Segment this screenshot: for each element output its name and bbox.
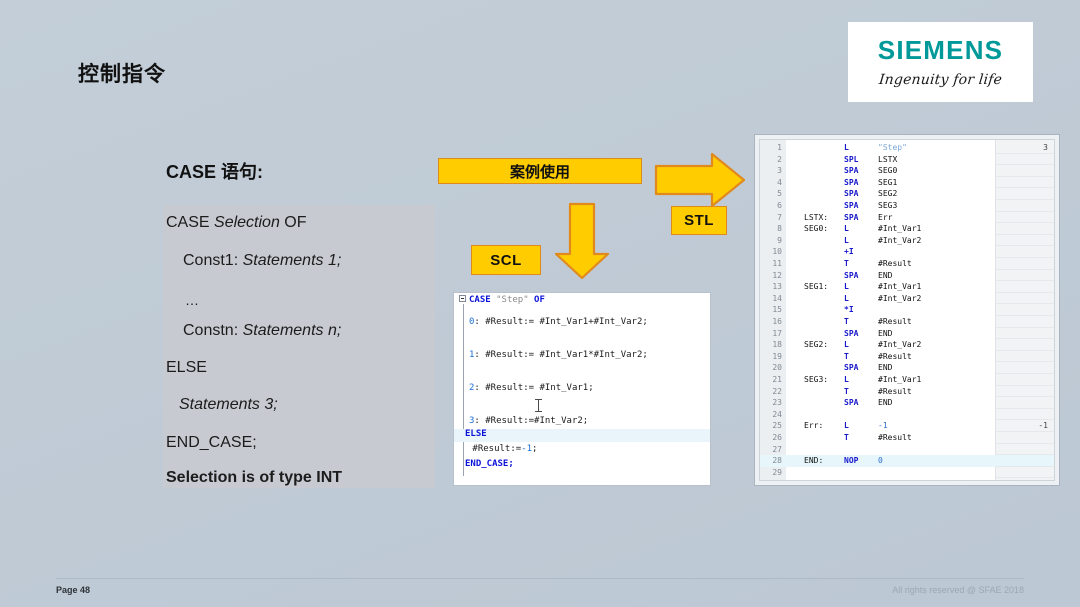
stl-operand: #Int_Var2 — [878, 339, 921, 351]
stl-value-cell — [996, 455, 1054, 467]
stl-line-number: 28 — [760, 455, 782, 467]
syntax-const1: Const1: — [183, 252, 243, 269]
text-cursor-icon — [535, 399, 542, 412]
stl-operand: SEG3 — [878, 200, 897, 212]
stl-operand: END — [878, 397, 892, 409]
stl-mnemonic: SPA — [844, 165, 858, 177]
stl-value-cell — [996, 235, 1054, 247]
stl-mnemonic: +I — [844, 246, 854, 258]
stl-label: SEG0: — [804, 223, 828, 235]
stl-operand: END — [878, 362, 892, 374]
stl-operand: 0 — [878, 455, 883, 467]
stl-value-cell — [996, 386, 1054, 398]
stl-value-cell — [996, 304, 1054, 316]
stl-line-number: 17 — [760, 328, 782, 340]
footer-copyright: All rights reserved @ SFAE 2018 — [892, 585, 1024, 595]
stl-operand: #Int_Var1 — [878, 374, 921, 386]
stl-value-cell — [996, 246, 1054, 258]
stl-mnemonic: T — [844, 386, 849, 398]
stl-line-number: 8 — [760, 223, 782, 235]
syntax-statements3: Statements 3; — [179, 396, 278, 413]
stl-operand: LSTX — [878, 154, 897, 166]
case-syntax-block: CASE Selection OF Const1: Statements 1; … — [163, 205, 435, 488]
stl-value-cell — [996, 316, 1054, 328]
syntax-kw-endcase: END_CASE; — [166, 434, 257, 451]
syntax-statementsn: Statements n; — [243, 322, 342, 339]
stl-value-cell — [996, 467, 1054, 479]
stl-operand: #Int_Var1 — [878, 223, 921, 235]
scl-line-4: 2: #Result:= #Int_Var1; — [469, 383, 710, 394]
stl-label: Err: — [804, 420, 823, 432]
stl-mnemonic: L — [844, 420, 849, 432]
arrow-down-icon — [554, 202, 610, 280]
scl-line-5: 3: #Result:=#Int_Var2; — [469, 416, 710, 427]
label-scl[interactable]: SCL — [471, 245, 541, 275]
stl-mnemonic: L — [844, 235, 849, 247]
logo-claim: Ingenuity for life — [878, 72, 1003, 88]
stl-value-cell — [996, 432, 1054, 444]
stl-mnemonic: L — [844, 142, 849, 154]
stl-mnemonic: L — [844, 293, 849, 305]
stl-operand: #Result — [878, 258, 912, 270]
syntax-note: Selection is of type INT — [166, 470, 342, 486]
syntax-line-4: Statements 3; — [179, 397, 278, 413]
syntax-line-3: Constn: Statements n; — [183, 323, 341, 339]
stl-label: LSTX: — [804, 212, 828, 224]
stl-mnemonic: NOP — [844, 455, 858, 467]
stl-value-cell — [996, 177, 1054, 189]
arrow-right-icon — [654, 152, 746, 208]
scl-code-panel[interactable]: CASE "Step" OF 0: #Result:= #Int_Var1+#I… — [453, 292, 711, 486]
stl-line-number: 13 — [760, 281, 782, 293]
stl-value-cell — [996, 165, 1054, 177]
stl-line-number: 6 — [760, 200, 782, 212]
code-fold-guide — [463, 304, 464, 476]
stl-operand: END — [878, 270, 892, 282]
stl-value-cell — [996, 188, 1054, 200]
stl-value-cell — [996, 351, 1054, 363]
stl-value-cell — [996, 420, 1054, 432]
stl-operand: SEG2 — [878, 188, 897, 200]
stl-line-number: 23 — [760, 397, 782, 409]
syntax-constn: Constn: — [183, 322, 243, 339]
stl-mnemonic: L — [844, 281, 849, 293]
stl-mnemonic: L — [844, 374, 849, 386]
syntax-kw-else: ELSE — [166, 359, 207, 376]
stl-value-cell — [996, 293, 1054, 305]
scl-line-2: 0: #Result:= #Int_Var1+#Int_Var2; — [469, 317, 710, 328]
stl-line-number: 7 — [760, 212, 782, 224]
stl-value-cell — [996, 223, 1054, 235]
stl-operand: #Result — [878, 432, 912, 444]
syntax-kw-of: OF — [280, 214, 307, 231]
scl-code-area[interactable]: CASE "Step" OF 0: #Result:= #Int_Var1+#I… — [454, 293, 710, 485]
code-fold-toggle-icon[interactable] — [459, 295, 466, 302]
syntax-line-2: Const1: Statements 1; — [183, 253, 341, 269]
scl-line-8: END_CASE; — [465, 459, 710, 470]
stl-mnemonic: SPA — [844, 212, 858, 224]
stl-label: SEG1: — [804, 281, 828, 293]
stl-line-number: 3 — [760, 165, 782, 177]
stl-line-number: 29 — [760, 467, 782, 479]
stl-operand: Err — [878, 212, 892, 224]
syntax-line-1: CASE Selection OF — [166, 215, 307, 231]
page-title: 控制指令 — [78, 58, 166, 88]
stl-operand: "Step" — [878, 142, 907, 154]
stl-line-number: 26 — [760, 432, 782, 444]
syntax-selection: Selection — [214, 214, 280, 231]
stl-mnemonic: SPA — [844, 188, 858, 200]
stl-mnemonic: L — [844, 339, 849, 351]
stl-line-number: 24 — [760, 409, 782, 421]
stl-value-cell — [996, 328, 1054, 340]
stl-operand: END — [878, 328, 892, 340]
stl-value-cell — [996, 142, 1054, 154]
stl-value-cell — [996, 212, 1054, 224]
stl-line-number: 11 — [760, 258, 782, 270]
stl-operand: #Result — [878, 316, 912, 328]
syntax-ellipsis: … — [185, 292, 199, 308]
stl-value-cell — [996, 339, 1054, 351]
stl-operand: #Result — [878, 351, 912, 363]
stl-line-number: 4 — [760, 177, 782, 189]
logo-wordmark: SIEMENS — [878, 37, 1003, 63]
stl-line-number: 5 — [760, 188, 782, 200]
stl-operand: #Int_Var2 — [878, 235, 921, 247]
footer-divider — [56, 578, 1024, 579]
stl-line-number: 22 — [760, 386, 782, 398]
syntax-line-ellipsis: … — [185, 293, 199, 307]
stl-line-number: 12 — [760, 270, 782, 282]
stl-value-cell — [996, 258, 1054, 270]
stl-code-area[interactable]: 1L"Step"32SPLLSTX3SPASEG04SPASEG15SPASEG… — [759, 139, 1055, 481]
stl-operand: SEG0 — [878, 165, 897, 177]
scl-line-6: ELSE — [454, 429, 710, 442]
stl-mnemonic: T — [844, 316, 849, 328]
stl-value-cell — [996, 362, 1054, 374]
stl-line-number: 14 — [760, 293, 782, 305]
stl-label: END: — [804, 455, 823, 467]
stl-operand: #Int_Var2 — [878, 293, 921, 305]
syntax-line-else: ELSE — [166, 360, 207, 376]
stl-value-cell — [996, 409, 1054, 421]
stl-value-cell — [996, 154, 1054, 166]
stl-line-number: 20 — [760, 362, 782, 374]
stl-value-cell — [996, 200, 1054, 212]
stl-line-number: 15 — [760, 304, 782, 316]
footer-page-number: Page 48 — [56, 585, 90, 595]
stl-line-number: 10 — [760, 246, 782, 258]
scl-line-7: #Result:=-1; — [467, 444, 710, 455]
label-stl[interactable]: STL — [671, 206, 727, 235]
stl-value-cell — [996, 444, 1054, 456]
stl-mnemonic: SPA — [844, 270, 858, 282]
stl-mnemonic: T — [844, 351, 849, 363]
callout-usage[interactable]: 案例使用 — [438, 158, 642, 184]
stl-operand: #Result — [878, 386, 912, 398]
siemens-logo: SIEMENS Ingenuity for life — [848, 22, 1033, 102]
syntax-statements1: Statements 1; — [243, 252, 342, 269]
stl-line-number: 2 — [760, 154, 782, 166]
case-statement-heading: CASE 语句: — [166, 158, 263, 184]
stl-line-number: 25 — [760, 420, 782, 432]
scl-line-3: 1: #Result:= #Int_Var1*#Int_Var2; — [469, 350, 710, 361]
stl-operand: #Int_Var1 — [878, 281, 921, 293]
stl-mnemonic: SPA — [844, 200, 858, 212]
stl-mnemonic: L — [844, 223, 849, 235]
stl-value-cell — [996, 281, 1054, 293]
stl-line-number: 27 — [760, 444, 782, 456]
stl-mnemonic: SPA — [844, 397, 858, 409]
stl-value-cell — [996, 374, 1054, 386]
stl-mnemonic: SPL — [844, 154, 858, 166]
stl-value-cell — [996, 397, 1054, 409]
stl-mnemonic: SPA — [844, 362, 858, 374]
stl-mnemonic: SPA — [844, 177, 858, 189]
scl-line-1: CASE "Step" OF — [469, 295, 710, 306]
stl-mnemonic: *I — [844, 304, 854, 316]
stl-mnemonic: T — [844, 258, 849, 270]
slide-canvas: 控制指令 SIEMENS Ingenuity for life CASE 语句:… — [0, 0, 1080, 607]
syntax-line-endcase: END_CASE; — [166, 435, 257, 451]
stl-label: SEG3: — [804, 374, 828, 386]
syntax-kw-case: CASE — [166, 214, 214, 231]
stl-code-panel[interactable]: 1L"Step"32SPLLSTX3SPASEG04SPASEG15SPASEG… — [754, 134, 1060, 486]
stl-line-number: 18 — [760, 339, 782, 351]
stl-line-number: 16 — [760, 316, 782, 328]
stl-line-number: 19 — [760, 351, 782, 363]
stl-mnemonic: SPA — [844, 328, 858, 340]
stl-operand: -1 — [878, 420, 888, 432]
stl-line-number: 21 — [760, 374, 782, 386]
stl-value-cell — [996, 270, 1054, 282]
stl-line-number: 1 — [760, 142, 782, 154]
stl-operand: SEG1 — [878, 177, 897, 189]
stl-mnemonic: T — [844, 432, 849, 444]
stl-label: SEG2: — [804, 339, 828, 351]
stl-line-number: 9 — [760, 235, 782, 247]
syntax-note-text: Selection is of type INT — [166, 469, 342, 486]
